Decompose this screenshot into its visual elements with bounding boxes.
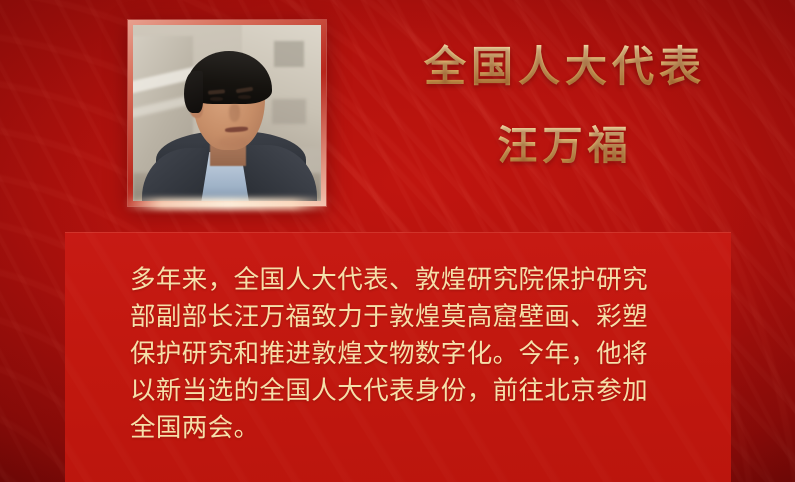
photo-window-lower [272,99,306,124]
photo-person-hair-side [184,71,203,113]
description-line: 全国两会。 [130,410,690,447]
description-line: 以新当选的全国人大代表身份，前往北京参加 [130,373,690,410]
portrait-photo [133,25,321,201]
portrait-frame [128,20,326,206]
description-line: 多年来，全国人大代表、敦煌研究院保护研究 [130,262,690,299]
photo-person-chin [218,136,248,148]
title-block: 全国人大代表 汪万福 [360,44,770,168]
description-line: 部副部长汪万福致力于敦煌莫高窟壁画、彩塑 [130,299,690,336]
photo-person-nose [229,104,240,122]
poster-canvas: 全国人大代表 汪万福 多年来，全国人大代表、敦煌研究院保护研究 部副部长汪万福致… [0,0,795,482]
photo-person-eye-left [210,97,223,101]
description-line: 保护研究和推进敦煌文物数字化。今年，他将 [130,336,690,373]
page-title: 全国人大代表 [360,44,770,90]
representative-name: 汪万福 [360,124,770,168]
description-text: 多年来，全国人大代表、敦煌研究院保护研究 部副部长汪万福致力于敦煌莫高窟壁画、彩… [130,262,690,447]
description-panel: 多年来，全国人大代表、敦煌研究院保护研究 部副部长汪万福致力于敦煌莫高窟壁画、彩… [65,232,731,482]
photo-window-upper [274,41,304,67]
